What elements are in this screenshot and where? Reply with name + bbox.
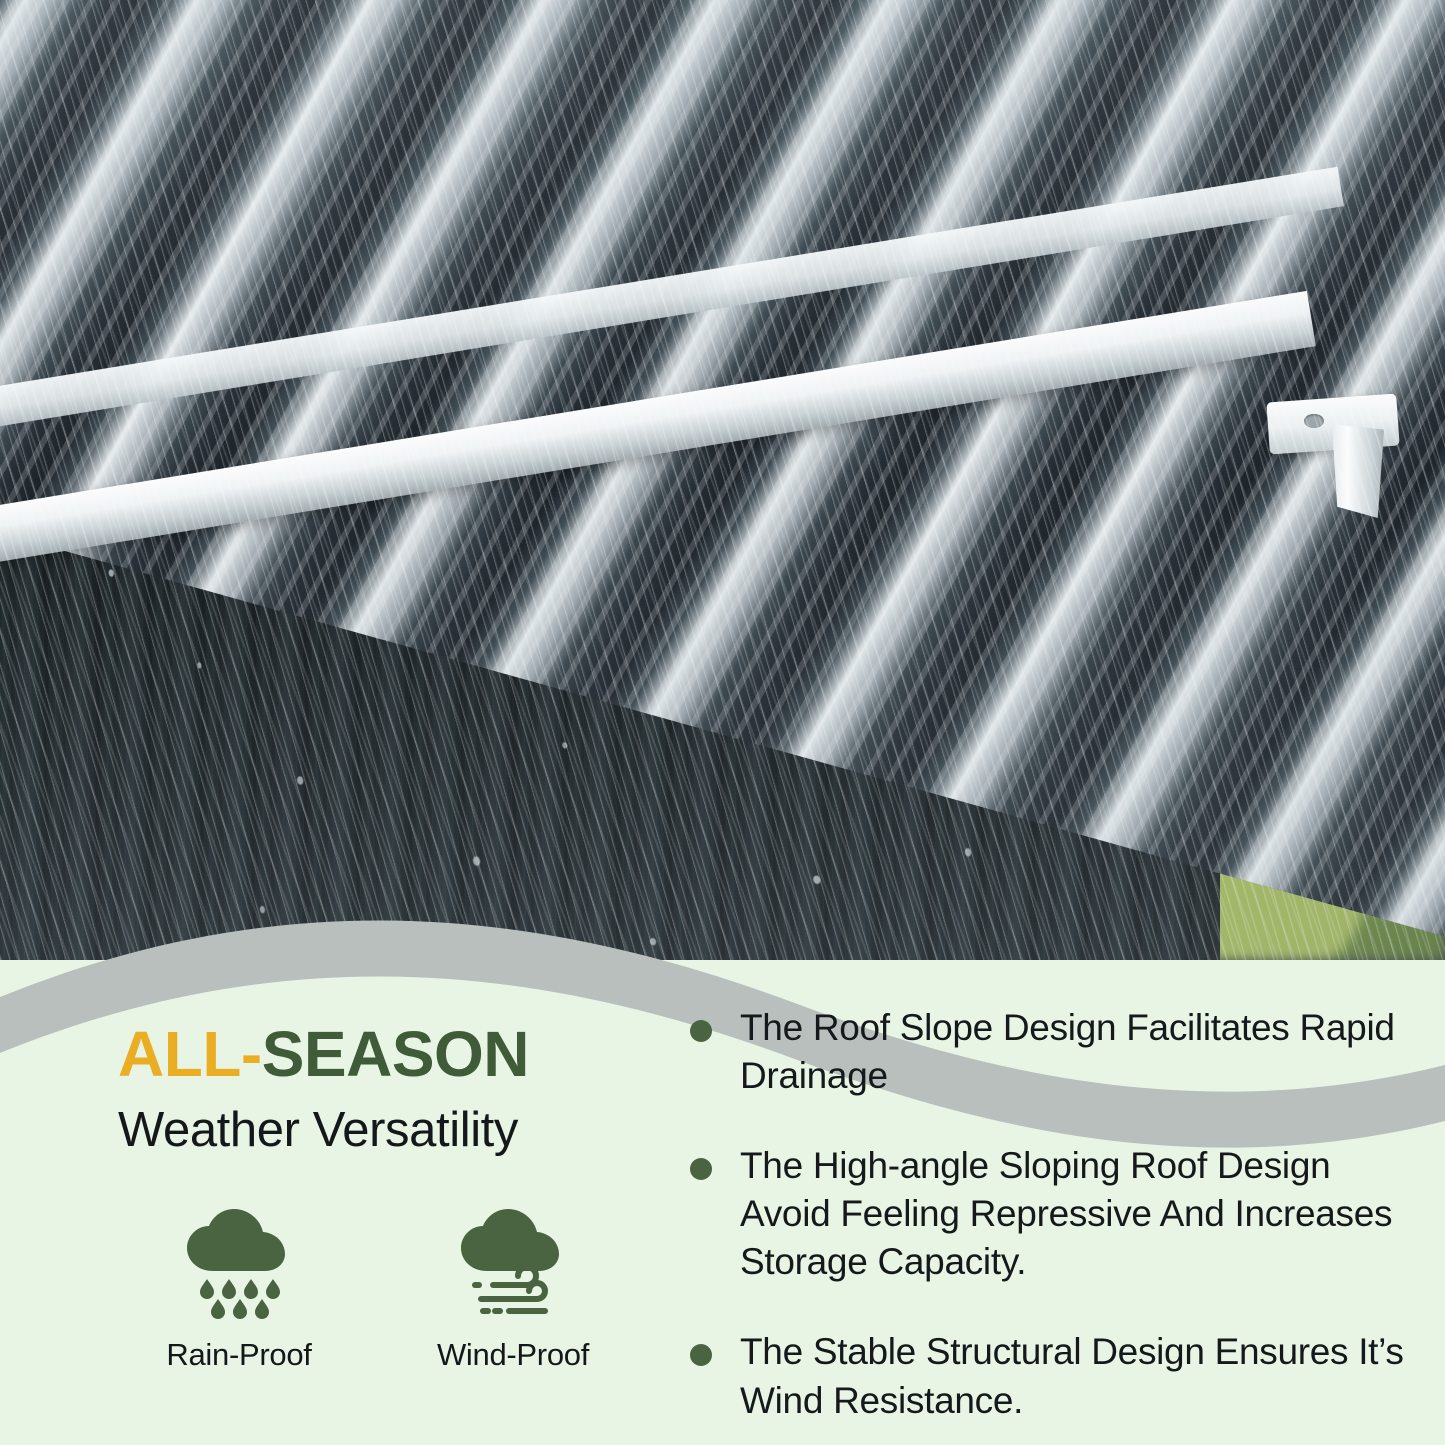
subheadline: Weather Versatility [118,1105,690,1156]
bullet-marker-icon [690,1344,712,1366]
bullet-marker-icon [690,1020,712,1042]
list-item: The Roof Slope Design Facilitates Rapid … [690,1004,1405,1100]
wind-cloud-icon [453,1209,573,1321]
list-item: The Stable Structural Design Ensures It’… [690,1328,1405,1424]
feature-rain-proof: Rain-Proof [154,1209,324,1373]
bullet-marker-icon [690,1158,712,1180]
content-panel: ALL-SEASON Weather Versatility [0,960,1445,1445]
support-post [1332,424,1384,518]
product-feature-banner: ALL-SEASON Weather Versatility [0,0,1445,1445]
benefit-list: The Roof Slope Design Facilitates Rapid … [690,1004,1405,1425]
benefit-text: The Roof Slope Design Facilitates Rapid … [740,1004,1405,1100]
feature-wind-proof: Wind-Proof [428,1209,598,1373]
headline-main: SEASON [262,1018,529,1090]
rain-cloud-icon [179,1209,299,1321]
product-photo [0,0,1445,960]
feature-label-rain-proof: Rain-Proof [166,1337,311,1373]
benefit-text: The High-angle Sloping Roof Design Avoid… [740,1142,1405,1286]
feature-icon-group: Rain-Proof [154,1209,690,1373]
benefits-column: The Roof Slope Design Facilitates Rapid … [690,960,1445,1445]
list-item: The High-angle Sloping Roof Design Avoid… [690,1142,1405,1286]
benefit-text: The Stable Structural Design Ensures It’… [740,1328,1405,1424]
feature-label-wind-proof: Wind-Proof [437,1337,589,1373]
bracket-bolt-hole-icon [1304,414,1324,428]
headline-column: ALL-SEASON Weather Versatility [0,960,690,1445]
headline-accent: ALL- [118,1018,262,1090]
page-title: ALL-SEASON [118,1022,690,1087]
